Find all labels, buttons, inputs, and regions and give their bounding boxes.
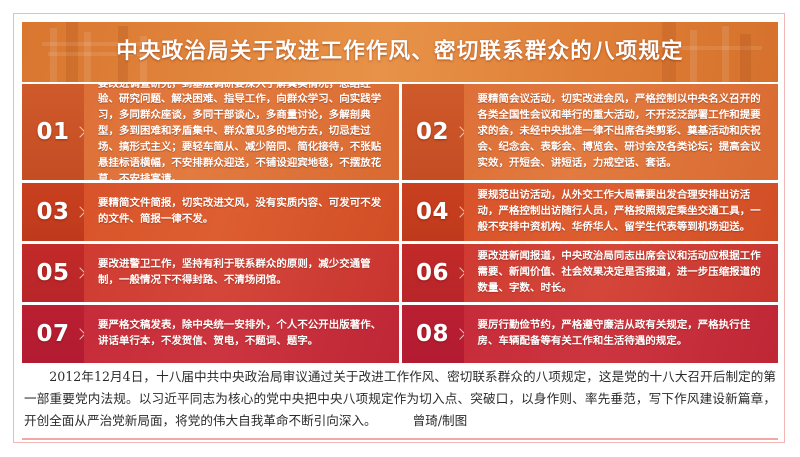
- rule-number-02: 02: [402, 84, 464, 180]
- rule-number-text: 04: [416, 199, 449, 225]
- rule-number-05: 05: [22, 244, 84, 302]
- rule-number-08: 08: [402, 305, 464, 363]
- rule-number-04: 04: [402, 183, 464, 241]
- caption-byline: 曾琦/制图: [413, 413, 468, 428]
- rule-number-text: 06: [416, 260, 449, 286]
- rule-card-03: 03 要精简文件简报，切实改进文风，没有实质内容、可发可不发的文件、简报一律不发…: [22, 183, 399, 241]
- rules-grid: 01 要改进调查研究，到基层调研要深入了解真实情况，总结经验、研究问题、解决困难…: [22, 84, 778, 360]
- rule-card-07: 07 要严格文稿发表，除中央统一安排外，个人不公开出版著作、讲话单行本，不发贺信…: [22, 305, 399, 363]
- rule-text-07: 要严格文稿发表，除中央统一安排外，个人不公开出版著作、讲话单行本，不发贺信、贺电…: [84, 305, 399, 363]
- rule-text-04: 要规范出访活动，从外交工作大局需要出发合理安排出访活动，严格控制出访随行人员，严…: [464, 183, 779, 241]
- rule-number-text: 08: [416, 321, 449, 347]
- caption-paragraph: 2012年12月4日，十八届中共中央政治局审议通过关于改进工作作风、密切联系群众…: [24, 366, 776, 432]
- rule-text-06: 要改进新闻报道，中央政治局同志出席会议和活动应根据工作需要、新闻价值、社会效果决…: [464, 244, 779, 302]
- rule-text-02: 要精简会议活动，切实改进会风，严格控制以中央名义召开的各类全国性会议和举行的重大…: [464, 84, 779, 180]
- rule-number-07: 07: [22, 305, 84, 363]
- caption-text: 2012年12月4日，十八届中共中央政治局审议通过关于改进工作作风、密切联系群众…: [24, 369, 776, 428]
- rule-card-05: 05 要改进警卫工作，坚持有利于联系群众的原则，减少交通管制，一般情况下不得封路…: [22, 244, 399, 302]
- rule-number-text: 02: [416, 119, 449, 145]
- rule-number-06: 06: [402, 244, 464, 302]
- rule-number-text: 01: [36, 119, 69, 145]
- rule-text-03: 要精简文件简报，切实改进文风，没有实质内容、可发可不发的文件、简报一律不发。: [84, 183, 399, 241]
- rule-card-04: 04 要规范出访活动，从外交工作大局需要出发合理安排出访活动，严格控制出访随行人…: [402, 183, 779, 241]
- rule-text-05: 要改进警卫工作，坚持有利于联系群众的原则，减少交通管制，一般情况下不得封路、不清…: [84, 244, 399, 302]
- rule-text-01: 要改进调查研究，到基层调研要深入了解真实情况，总结经验、研究问题、解决困难、指导…: [84, 84, 399, 180]
- rule-card-06: 06 要改进新闻报道，中央政治局同志出席会议和活动应根据工作需要、新闻价值、社会…: [402, 244, 779, 302]
- rule-number-text: 05: [36, 260, 69, 286]
- rule-card-08: 08 要厉行勤俭节约，严格遵守廉洁从政有关规定，严格执行住房、车辆配备等有关工作…: [402, 305, 779, 363]
- page-title: 中央政治局关于改进工作作风、密切联系群众的八项规定: [22, 22, 778, 82]
- rule-card-01: 01 要改进调查研究，到基层调研要深入了解真实情况，总结经验、研究问题、解决困难…: [22, 84, 399, 180]
- rule-number-text: 03: [36, 199, 69, 225]
- rule-number-03: 03: [22, 183, 84, 241]
- poster-header: 中央政治局关于改进工作作风、密切联系群众的八项规定: [22, 22, 778, 82]
- rule-card-02: 02 要精简会议活动，切实改进会风，严格控制以中央名义召开的各类全国性会议和举行…: [402, 84, 779, 180]
- rule-text-08: 要厉行勤俭节约，严格遵守廉洁从政有关规定，严格执行住房、车辆配备等有关工作和生活…: [464, 305, 779, 363]
- rule-number-text: 07: [36, 321, 69, 347]
- caption-block: 2012年12月4日，十八届中共中央政治局审议通过关于改进工作作风、密切联系群众…: [22, 366, 778, 436]
- bottom-divider: [22, 438, 778, 440]
- infographic-poster: 中央政治局关于改进工作作风、密切联系群众的八项规定 01 要改进调查研究，到基层…: [13, 13, 785, 443]
- rule-number-01: 01: [22, 84, 84, 180]
